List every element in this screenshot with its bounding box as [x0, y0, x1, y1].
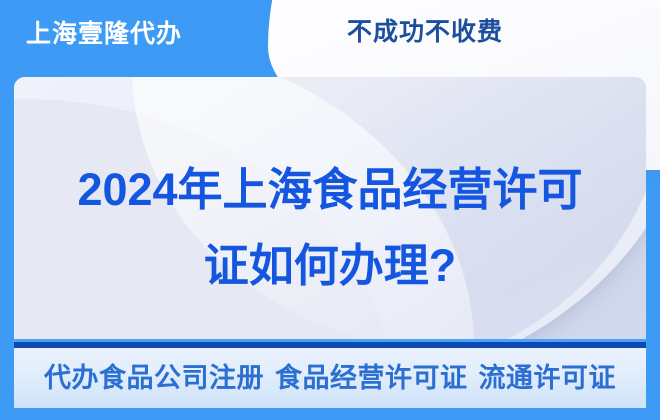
- keyword-item-1[interactable]: 代办食品公司注册: [44, 365, 264, 392]
- keyword-item-3[interactable]: 流通许可证: [479, 365, 617, 392]
- page-title: 2024年上海食品经营许可 证如何办理?: [0, 152, 660, 304]
- keyword-item-2[interactable]: 食品经营许可证: [275, 365, 468, 392]
- page-title-line-1: 2024年上海食品经营许可: [77, 164, 582, 215]
- keyword-bar: 代办食品公司注册 食品经营许可证 流通许可证: [14, 348, 646, 408]
- tagline-text: 不成功不收费: [0, 20, 660, 45]
- promo-banner: 上海壹隆代办 不成功不收费 2024年上海食品经营许可 证如何办理? 代办食品公…: [0, 0, 660, 420]
- page-title-line-2: 证如何办理?: [0, 228, 660, 304]
- divider-dark-line: [14, 342, 646, 348]
